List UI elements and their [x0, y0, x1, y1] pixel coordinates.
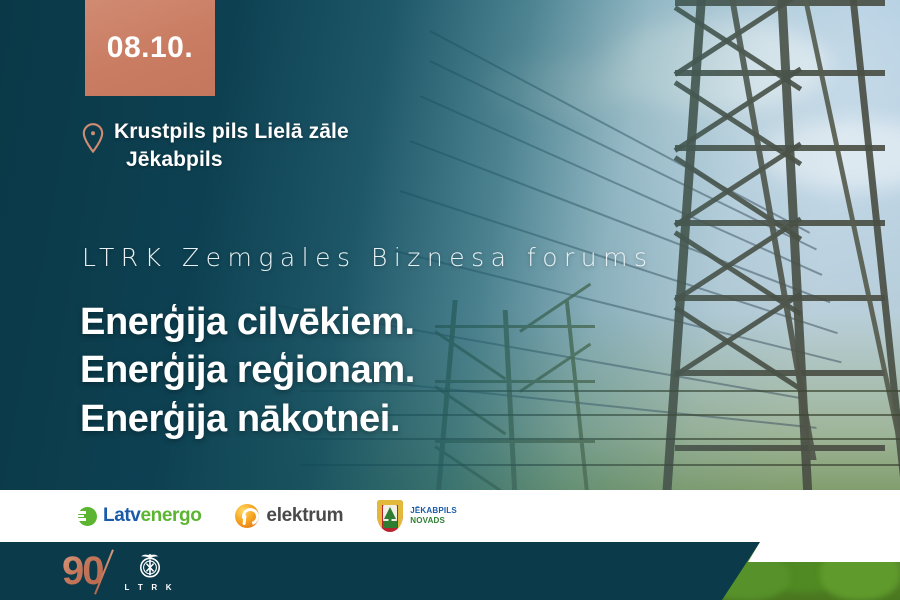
sponsor-logos: Latvenergo elektrum JĒKABPILS [78, 500, 457, 532]
location-text: Krustpils pils Lielā zāle Jēkabpils [114, 118, 349, 173]
latvenergo-wordmark: Latvenergo [103, 505, 201, 527]
elektrum-swirl-icon [235, 504, 259, 528]
sponsor-band: Latvenergo elektrum JĒKABPILS [0, 490, 900, 542]
sponsor-logo-latvenergo: Latvenergo [78, 505, 201, 527]
anniversary-90-mark: 90 [62, 551, 103, 591]
footer-bar: 90 L T R K [0, 542, 760, 600]
event-poster: 08.10. Krustpils pils Lielā zāle Jēkabpi… [0, 0, 900, 600]
elektrum-wordmark: elektrum [266, 505, 343, 527]
ltrk-wordmark: L T R K [125, 583, 175, 592]
date-badge-label: 08.10. [107, 31, 193, 65]
ltrk-logo: L T R K [125, 551, 175, 592]
location-pin-icon [80, 122, 106, 154]
jekabpils-coat-of-arms-icon [377, 500, 403, 532]
location-city: Jēkabpils [114, 146, 349, 174]
date-badge: 08.10. [85, 0, 215, 96]
location-venue: Krustpils pils Lielā zāle [114, 120, 349, 143]
headline-line-1: Enerģija cilvēkiem. [80, 298, 415, 346]
sponsor-logo-elektrum: elektrum [235, 504, 343, 528]
jekabpils-wordmark-line1: JĒKABPILS [410, 506, 457, 516]
latvenergo-wordmark-part1: Latv [103, 505, 140, 526]
location-block: Krustpils pils Lielā zāle Jēkabpils [80, 118, 349, 173]
event-subtitle: LTRK Zemgales Biznesa forums [82, 243, 654, 272]
jekabpils-wordmark: JĒKABPILS NOVADS [410, 506, 457, 526]
headline-line-3: Enerģija nākotnei. [80, 395, 415, 443]
jekabpils-wordmark-line2: NOVADS [410, 516, 457, 526]
sponsor-logo-jekabpils-novads: JĒKABPILS NOVADS [377, 500, 457, 532]
headline: Enerģija cilvēkiem. Enerģija reģionam. E… [80, 298, 415, 443]
headline-line-2: Enerģija reģionam. [80, 346, 415, 394]
latvenergo-e-icon [78, 507, 97, 526]
ltrk-crest-icon [135, 551, 165, 579]
latvenergo-wordmark-part2: energo [140, 505, 201, 526]
